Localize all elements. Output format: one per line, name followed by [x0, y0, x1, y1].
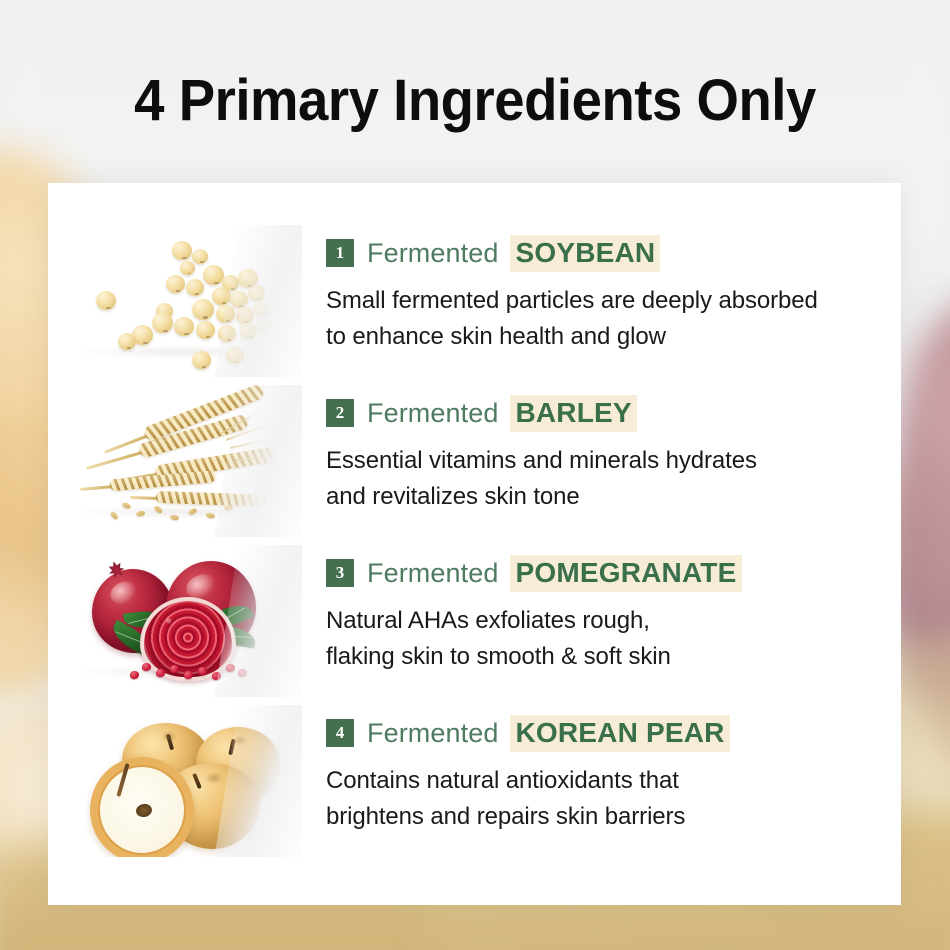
barley-stalks-photo: [70, 385, 302, 537]
ingredient-number-badge: 2: [326, 399, 354, 427]
ingredient-description: Essential vitamins and minerals hydrates…: [326, 443, 901, 516]
ingredient-name: KOREAN PEAR: [510, 715, 729, 752]
ingredient-description: Contains natural antioxidants that brigh…: [326, 763, 901, 836]
pomegranate-photo: [70, 545, 302, 697]
ingredient-name: POMEGRANATE: [510, 555, 741, 592]
ingredient-prefix: Fermented: [367, 238, 498, 269]
soybeans-shadow: [80, 345, 280, 359]
ingredients-card: 1 Fermented SOYBEAN Small fermented part…: [48, 183, 901, 905]
barley-heading: 2 Fermented BARLEY: [326, 395, 901, 431]
ingredient-row-pomegranate: 3 Fermented POMEGRANATE Natural AHAs exf…: [48, 545, 901, 705]
pomegranate-heading: 3 Fermented POMEGRANATE: [326, 555, 901, 591]
ingredient-description: Small fermented particles are deeply abs…: [326, 283, 901, 356]
pomegranate-text-column: 3 Fermented POMEGRANATE Natural AHAs exf…: [302, 545, 901, 676]
ingredient-prefix: Fermented: [367, 558, 498, 589]
ingredient-name: BARLEY: [510, 395, 636, 432]
korean-pear-text-column: 4 Fermented KOREAN PEAR Contains natural…: [302, 705, 901, 836]
ingredient-row-korean-pear: 4 Fermented KOREAN PEAR Contains natural…: [48, 705, 901, 865]
ingredient-prefix: Fermented: [367, 718, 498, 749]
barley-text-column: 2 Fermented BARLEY Essential vitamins an…: [302, 385, 901, 516]
ingredient-number-badge: 4: [326, 719, 354, 747]
soybean-heading: 1 Fermented SOYBEAN: [326, 235, 901, 271]
ingredient-number-badge: 3: [326, 559, 354, 587]
ingredient-name: SOYBEAN: [510, 235, 660, 272]
soybean-text-column: 1 Fermented SOYBEAN Small fermented part…: [302, 225, 901, 356]
ingredient-prefix: Fermented: [367, 398, 498, 429]
korean-pear-photo: [70, 705, 302, 857]
korean-pear-heading: 4 Fermented KOREAN PEAR: [326, 715, 901, 751]
ingredient-description: Natural AHAs exfoliates rough, flaking s…: [326, 603, 901, 676]
ingredient-number-badge: 1: [326, 239, 354, 267]
soybeans-photo: [70, 225, 302, 377]
page-title: 4 Primary Ingredients Only: [29, 72, 922, 130]
ingredient-row-soybean: 1 Fermented SOYBEAN Small fermented part…: [48, 225, 901, 385]
ingredient-row-barley: 2 Fermented BARLEY Essential vitamins an…: [48, 385, 901, 545]
